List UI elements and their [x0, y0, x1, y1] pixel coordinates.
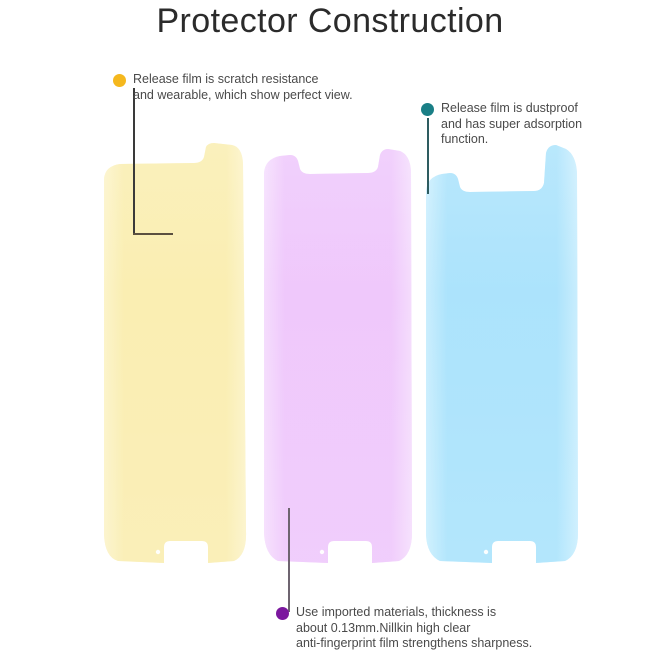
callout-release-film-scratch: Release film is scratch resistance and w…	[113, 72, 413, 103]
protector-sheet-blue	[420, 143, 585, 593]
callout-text-imported-materials: Use imported materials, thickness is abo…	[296, 605, 532, 652]
callout-imported-materials: Use imported materials, thickness is abo…	[276, 605, 646, 652]
teal-bullet-icon	[421, 103, 434, 116]
leader-line-yellow-vertical	[133, 88, 135, 234]
callout-text-release-film-scratch: Release film is scratch resistance and w…	[133, 72, 353, 103]
callout-release-film-dustproof: Release film is dustproof and has super …	[421, 101, 646, 148]
protector-sheet-yellow	[96, 143, 256, 593]
leader-line-purple-vertical	[288, 508, 290, 612]
purple-bullet-icon	[276, 607, 289, 620]
callout-text-release-film-dustproof: Release film is dustproof and has super …	[441, 101, 582, 148]
protector-sheet-purple	[258, 143, 418, 593]
protector-construction-infographic: Protector Construction	[0, 0, 660, 660]
page-title: Protector Construction	[0, 2, 660, 41]
yellow-bullet-icon	[113, 74, 126, 87]
leader-line-yellow-horizontal	[133, 233, 173, 235]
